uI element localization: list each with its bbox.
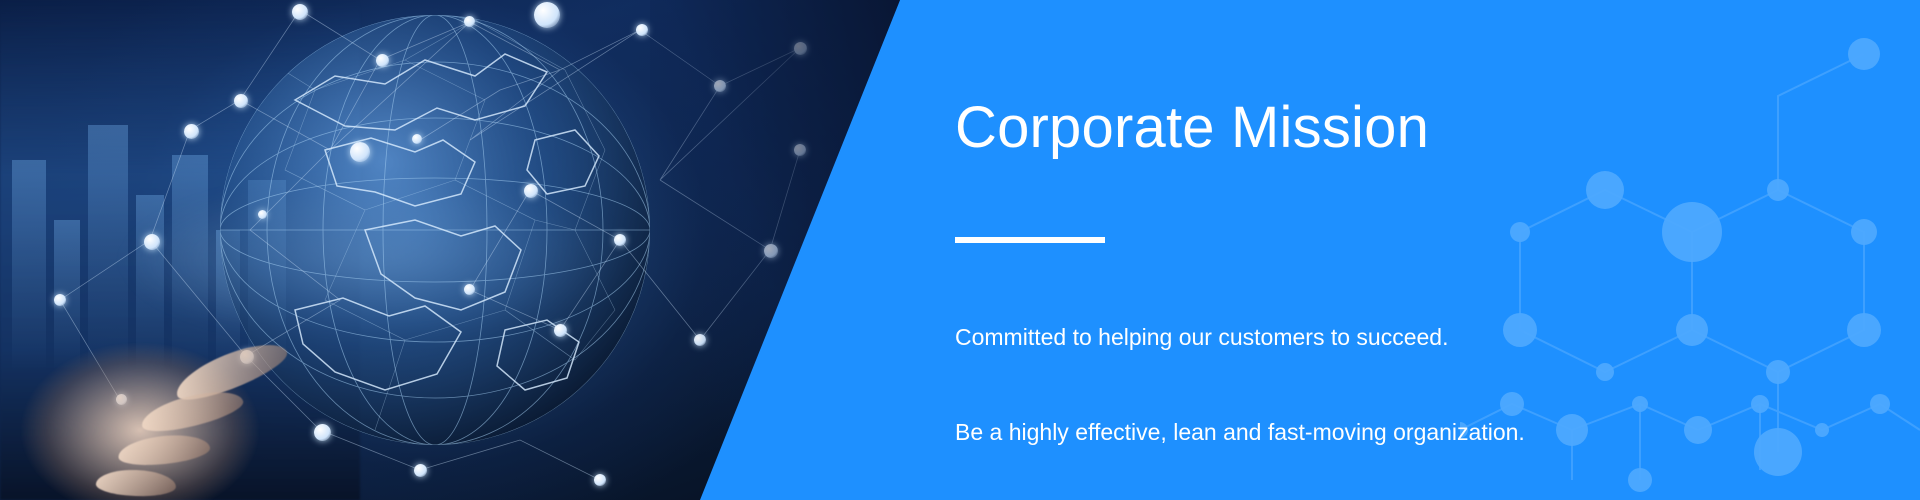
page-title: Corporate Mission — [955, 92, 1429, 164]
title-divider — [955, 237, 1105, 243]
mission-line: Be a highly effective, lean and fast-mov… — [955, 417, 1546, 449]
corporate-mission-banner: Corporate Mission Committed to helping o… — [0, 0, 1920, 500]
banner-content: Corporate Mission Committed to helping o… — [955, 0, 1755, 500]
mission-line: Committed to helping our customers to su… — [955, 322, 1546, 354]
hand-silhouette — [20, 280, 320, 500]
mission-statement: Committed to helping our customers to su… — [955, 259, 1546, 500]
